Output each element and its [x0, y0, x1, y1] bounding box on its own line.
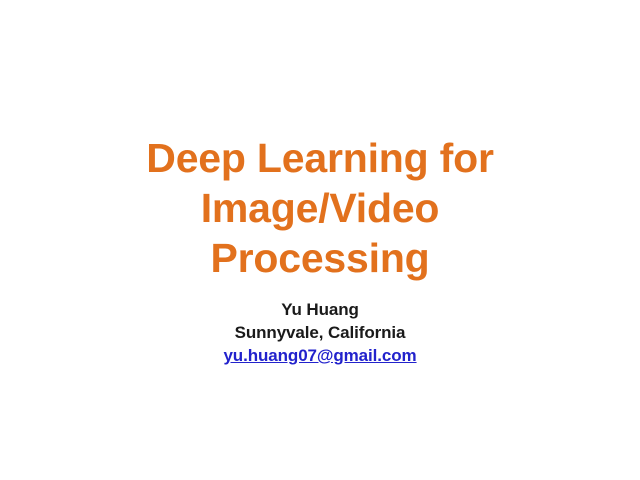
- author-email-link[interactable]: yu.huang07@gmail.com: [0, 344, 640, 367]
- page-title: Deep Learning for Image/Video Processing: [0, 133, 640, 283]
- slide-subtitle-block: Yu Huang Sunnyvale, California yu.huang0…: [0, 298, 640, 367]
- author-name: Yu Huang: [0, 298, 640, 321]
- presentation-slide: Deep Learning for Image/Video Processing…: [0, 0, 640, 480]
- author-location: Sunnyvale, California: [0, 321, 640, 344]
- slide-title-block: Deep Learning for Image/Video Processing: [0, 133, 640, 283]
